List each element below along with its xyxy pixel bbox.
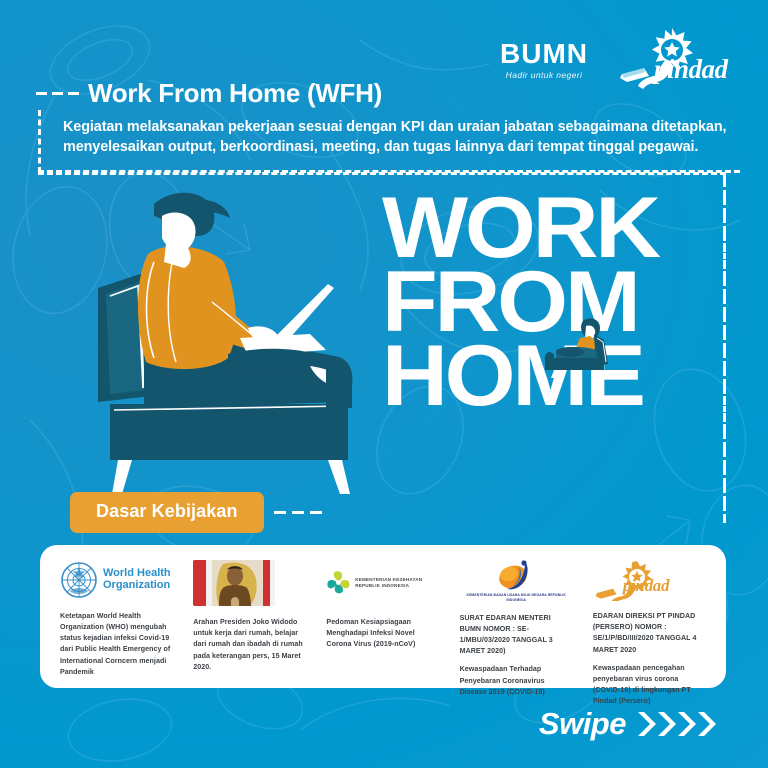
bumn-logo: BUMN Hadir untuk negeri bbox=[500, 24, 588, 80]
swipe-label: Swipe bbox=[539, 706, 626, 742]
kementerian-bumn-wordmark: KEMENTERIAN BADAN USAHA MILIK NEGARA REP… bbox=[460, 593, 573, 603]
pindad-wordmark: pindad bbox=[623, 576, 669, 596]
dash-marker-icon bbox=[36, 92, 79, 95]
reference-paragraph: SURAT EDARAN MENTERI BUMN NOMOR : SE-1/M… bbox=[460, 613, 573, 658]
references-card: World Health Organization Ketetapan Worl… bbox=[40, 545, 726, 688]
work-from-home-illustration bbox=[88, 176, 388, 506]
who-emblem-icon bbox=[60, 561, 98, 599]
reference-column-presiden: Arahan Presiden Joko Widodo untuk kerja … bbox=[183, 559, 316, 678]
dasar-kebijakan-button[interactable]: Dasar Kebijakan bbox=[70, 492, 264, 533]
pindad-logo: pindad bbox=[614, 24, 734, 94]
dash-marker-icon bbox=[274, 511, 322, 514]
bumn-tagline: Hadir untuk negeri bbox=[500, 70, 588, 80]
dasar-kebijakan-row: Dasar Kebijakan bbox=[70, 492, 322, 533]
reference-text: Ketetapan World Health Organization (WHO… bbox=[60, 611, 173, 678]
reference-paragraph: Kewaspadaan Terhadap Penyebaran Coronavi… bbox=[460, 664, 573, 698]
reference-text: Arahan Presiden Joko Widodo untuk kerja … bbox=[193, 617, 306, 673]
kemenkes-wordmark: KEMENTERIAN KESEHATAN REPUBLIK INDONESIA bbox=[355, 577, 439, 590]
kemenkes-emblem-icon bbox=[326, 566, 351, 600]
pindad-wordmark: pindad bbox=[654, 54, 728, 85]
reference-paragraph: Ketetapan World Health Organization (WHO… bbox=[60, 611, 173, 678]
reference-column-pindad: pindad EDARAN DIREKSI PT PINDAD (PERSERO… bbox=[583, 559, 716, 678]
reference-paragraph: Arahan Presiden Joko Widodo untuk kerja … bbox=[193, 617, 306, 673]
bumn-wordmark: BUMN bbox=[500, 40, 588, 68]
chevron-right-icon bbox=[636, 709, 732, 739]
who-wordmark: World Health Organization bbox=[103, 568, 171, 591]
pindad-logo: pindad bbox=[593, 559, 706, 601]
reference-column-bumn: KEMENTERIAN BADAN USAHA MILIK NEGARA REP… bbox=[450, 559, 583, 678]
page-subtitle: Kegiatan melaksanakan pekerjaan sesuai d… bbox=[63, 118, 740, 158]
swipe-indicator[interactable]: Swipe bbox=[539, 706, 732, 742]
president-press-photo-icon bbox=[193, 560, 275, 606]
reference-paragraph: Kewaspadaan pencegahan penyebaran virus … bbox=[593, 663, 706, 708]
reference-text: EDARAN DIREKSI PT PINDAD (PERSERO) NOMOR… bbox=[593, 611, 706, 708]
brand-logos: BUMN Hadir untuk negeri pindad bbox=[500, 24, 734, 94]
headline: WORK FROM HOME bbox=[382, 192, 732, 414]
reference-text: Pedoman Kesiapsiagaan Menghadapi Infeksi… bbox=[326, 617, 439, 651]
page-title: Work From Home (WFH) bbox=[88, 78, 382, 109]
subtitle-box: Kegiatan melaksanakan pekerjaan sesuai d… bbox=[38, 110, 740, 173]
kementerian-bumn-logo: KEMENTERIAN BADAN USAHA MILIK NEGARA REP… bbox=[460, 559, 573, 603]
reference-text: SURAT EDARAN MENTERI BUMN NOMOR : SE-1/M… bbox=[460, 613, 573, 698]
title-row: Work From Home (WFH) bbox=[36, 78, 382, 109]
mini-sofa-illustration bbox=[540, 308, 616, 378]
kementerian-bumn-emblem-icon bbox=[495, 559, 537, 591]
poster-canvas: BUMN Hadir untuk negeri pindad Work From… bbox=[0, 0, 768, 768]
reference-column-kemenkes: KEMENTERIAN KESEHATAN REPUBLIK INDONESIA… bbox=[316, 559, 449, 678]
reference-paragraph: EDARAN DIREKSI PT PINDAD (PERSERO) NOMOR… bbox=[593, 611, 706, 656]
kemenkes-logo: KEMENTERIAN KESEHATAN REPUBLIK INDONESIA bbox=[326, 559, 439, 607]
who-logo: World Health Organization bbox=[60, 559, 173, 601]
reference-paragraph: Pedoman Kesiapsiagaan Menghadapi Infeksi… bbox=[326, 617, 439, 651]
jokowi-photo bbox=[193, 559, 306, 607]
reference-column-who: World Health Organization Ketetapan Worl… bbox=[50, 559, 183, 678]
